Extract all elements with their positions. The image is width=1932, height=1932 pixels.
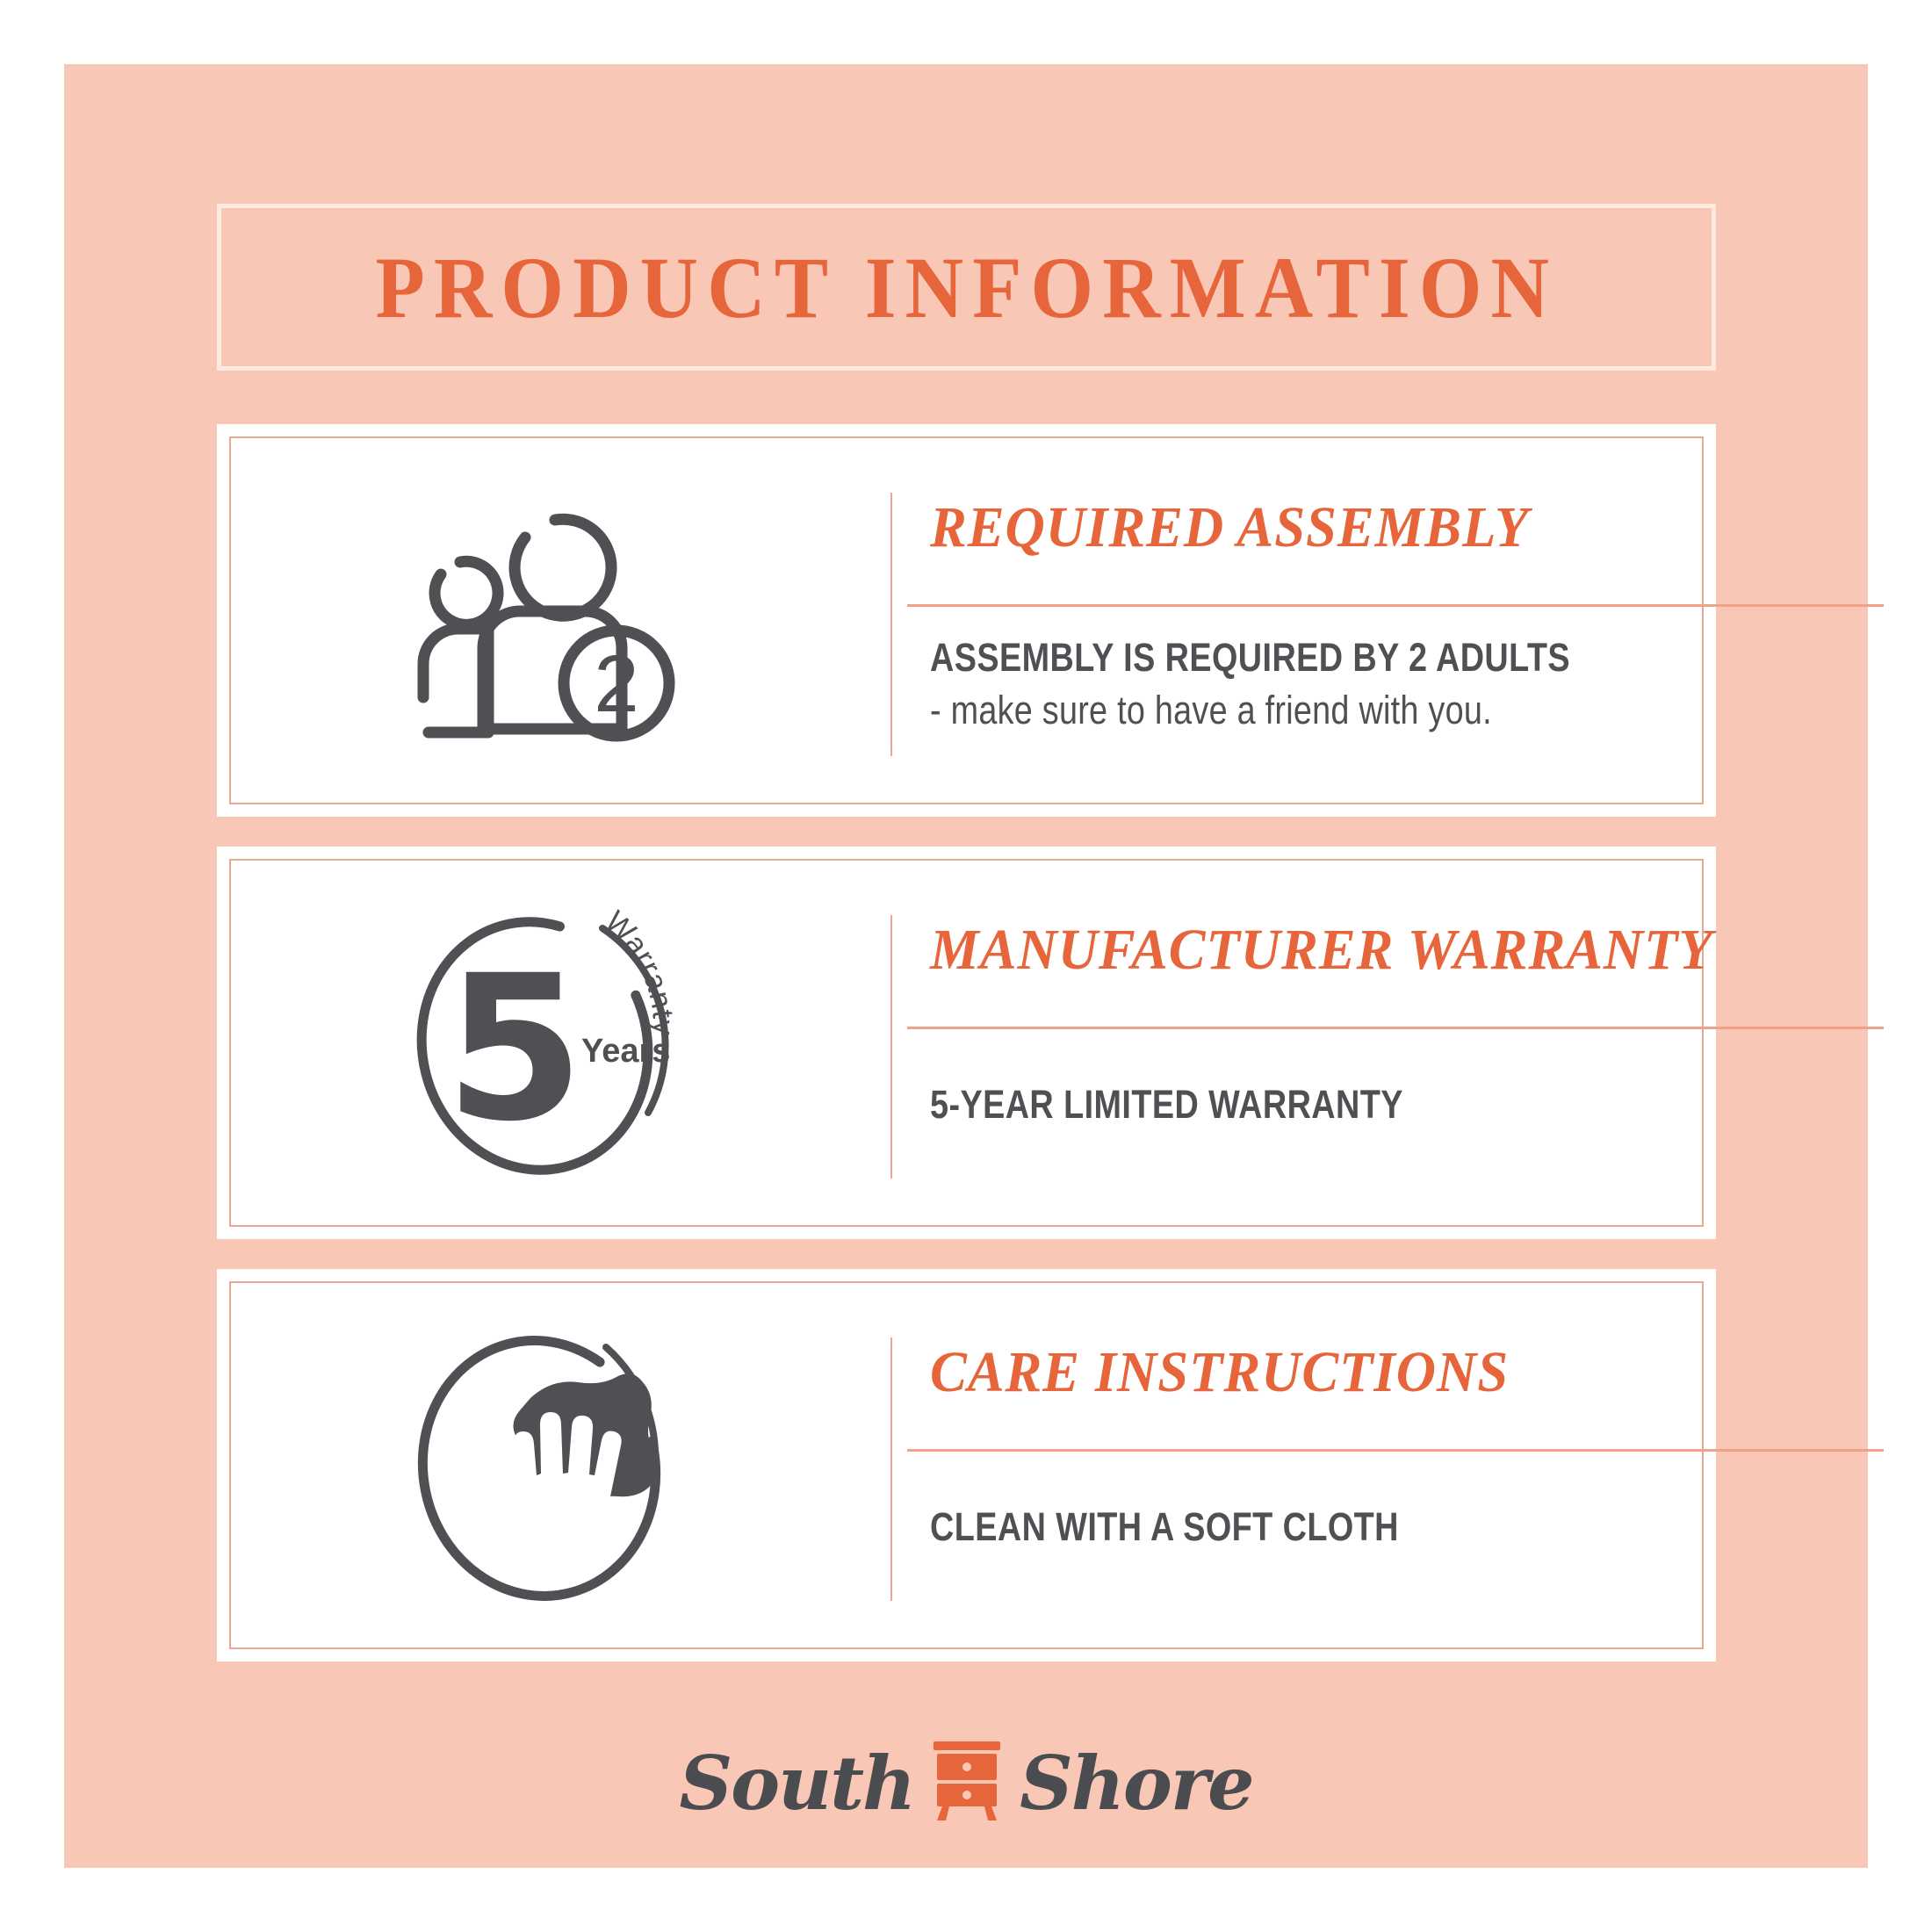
card-vertical-separator [890,1337,892,1601]
brand-logo: South Shore [0,1717,1932,1849]
card-heading-rule [907,1449,1884,1452]
card-body-line-1: ASSEMBLY IS REQUIRED BY 2 ADULTS [930,635,1570,681]
five-year-warranty-seal-icon: 5 Years Warranty [236,847,851,1239]
card-text-block: CARE INSTRUCTIONS CLEAN WITH A SOFT CLOT… [930,1269,1679,1662]
card-heading: REQUIRED ASSEMBLY [930,494,1529,561]
card-heading-rule [907,1027,1884,1029]
title-banner: PRODUCT INFORMATION [217,204,1716,371]
brand-word-south: South [679,1740,914,1827]
assembly-count-badge: 2 [594,639,638,729]
card-body-line-1: 5-YEAR LIMITED WARRANTY [930,1082,1403,1128]
card-body-line-1: CLEAN WITH A SOFT CLOTH [930,1504,1399,1550]
card-text-block: MANUFACTURER WARRANTY 5-YEAR LIMITED WAR… [930,847,1679,1239]
nightstand-icon [930,1740,1004,1827]
info-card-manufacturer-warranty: 5 Years Warranty MANUFACTURER WARRANTY 5… [217,847,1716,1239]
two-people-badge-icon: 2 [236,424,851,817]
warranty-years-label: Years [581,1033,670,1070]
info-card-care-instructions: CARE INSTRUCTIONS CLEAN WITH A SOFT CLOT… [217,1269,1716,1662]
card-heading-rule [907,604,1884,607]
card-text-block: REQUIRED ASSEMBLY ASSEMBLY IS REQUIRED B… [930,424,1679,817]
card-vertical-separator [890,915,892,1179]
card-vertical-separator [890,493,892,756]
hand-wiping-cloth-icon [236,1269,851,1662]
page-title: PRODUCT INFORMATION [375,237,1558,338]
card-heading: CARE INSTRUCTIONS [930,1339,1509,1406]
card-body-line-2: - make sure to have a friend with you. [930,688,1492,733]
info-card-required-assembly: 2 REQUIRED ASSEMBLY ASSEMBLY IS REQUIRED… [217,424,1716,817]
warranty-years-number: 5 [445,932,585,1165]
card-heading: MANUFACTURER WARRANTY [930,917,1713,984]
brand-word-shore: Shore [1020,1740,1252,1827]
poster-root: PRODUCT INFORMATION 2 REQUIRED ASSEMBLY [0,0,1932,1932]
